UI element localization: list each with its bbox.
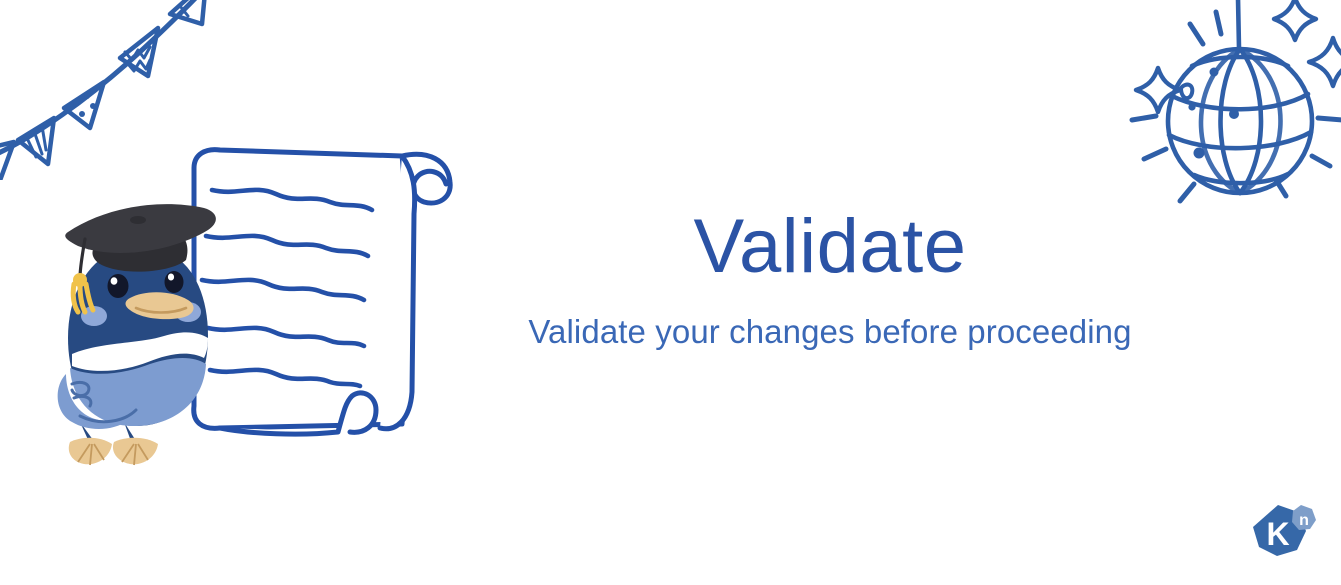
mascot-scroll-illustration bbox=[52, 138, 462, 468]
logo-letter-n: n bbox=[1299, 512, 1309, 529]
page-title: Validate bbox=[460, 208, 1200, 286]
bird-mascot bbox=[52, 186, 230, 468]
disco-ball-decoration bbox=[1118, 0, 1341, 228]
brand-logo[interactable]: K n bbox=[1248, 503, 1320, 567]
page-subtitle: Validate your changes before proceeding bbox=[460, 286, 1200, 350]
hero-text-block: Validate Validate your changes before pr… bbox=[460, 208, 1200, 350]
slide-canvas: Validate Validate your changes before pr… bbox=[0, 0, 1341, 585]
logo-letter-k: K bbox=[1266, 516, 1289, 552]
